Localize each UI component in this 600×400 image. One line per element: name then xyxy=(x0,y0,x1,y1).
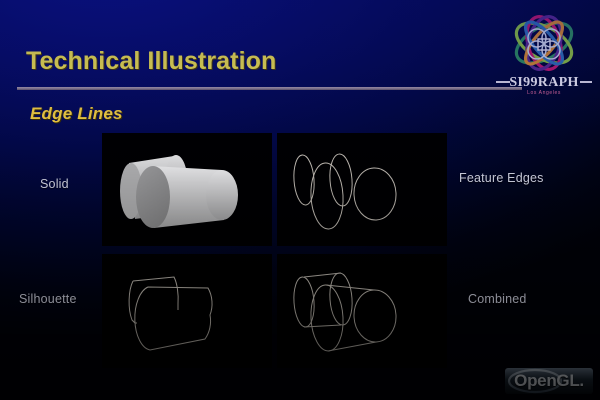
combined-render xyxy=(277,254,447,368)
page-title: Technical Illustration xyxy=(26,49,276,74)
slide-subtitle: Edge Lines xyxy=(30,104,123,124)
siggraph-location: Los Angeles xyxy=(494,91,594,96)
solid-cylinders-render xyxy=(102,133,272,246)
caption-solid: Solid xyxy=(40,178,69,191)
title-divider xyxy=(17,87,522,90)
caption-combined: Combined xyxy=(468,293,527,306)
slide-canvas: Technical Illustration Edge Lines S xyxy=(0,0,600,400)
siggraph-rings-icon xyxy=(494,14,594,76)
silhouette-render xyxy=(102,254,272,368)
siggraph-99-logo: SI99RAPH Los Angeles xyxy=(494,14,594,106)
caption-silhouette: Silhouette xyxy=(19,293,77,306)
panel-solid[interactable] xyxy=(102,133,272,246)
opengl-logo: OpenGL. xyxy=(505,368,593,394)
feature-edges-render xyxy=(277,133,447,246)
caption-feature: Feature Edges xyxy=(459,172,544,185)
opengl-wordmark: OpenGL. xyxy=(505,368,593,394)
panel-combined[interactable] xyxy=(277,254,447,368)
panel-feature-edges[interactable] xyxy=(277,133,447,246)
siggraph-wordmark: SI99RAPH xyxy=(494,76,594,90)
panel-silhouette[interactable] xyxy=(102,254,272,368)
